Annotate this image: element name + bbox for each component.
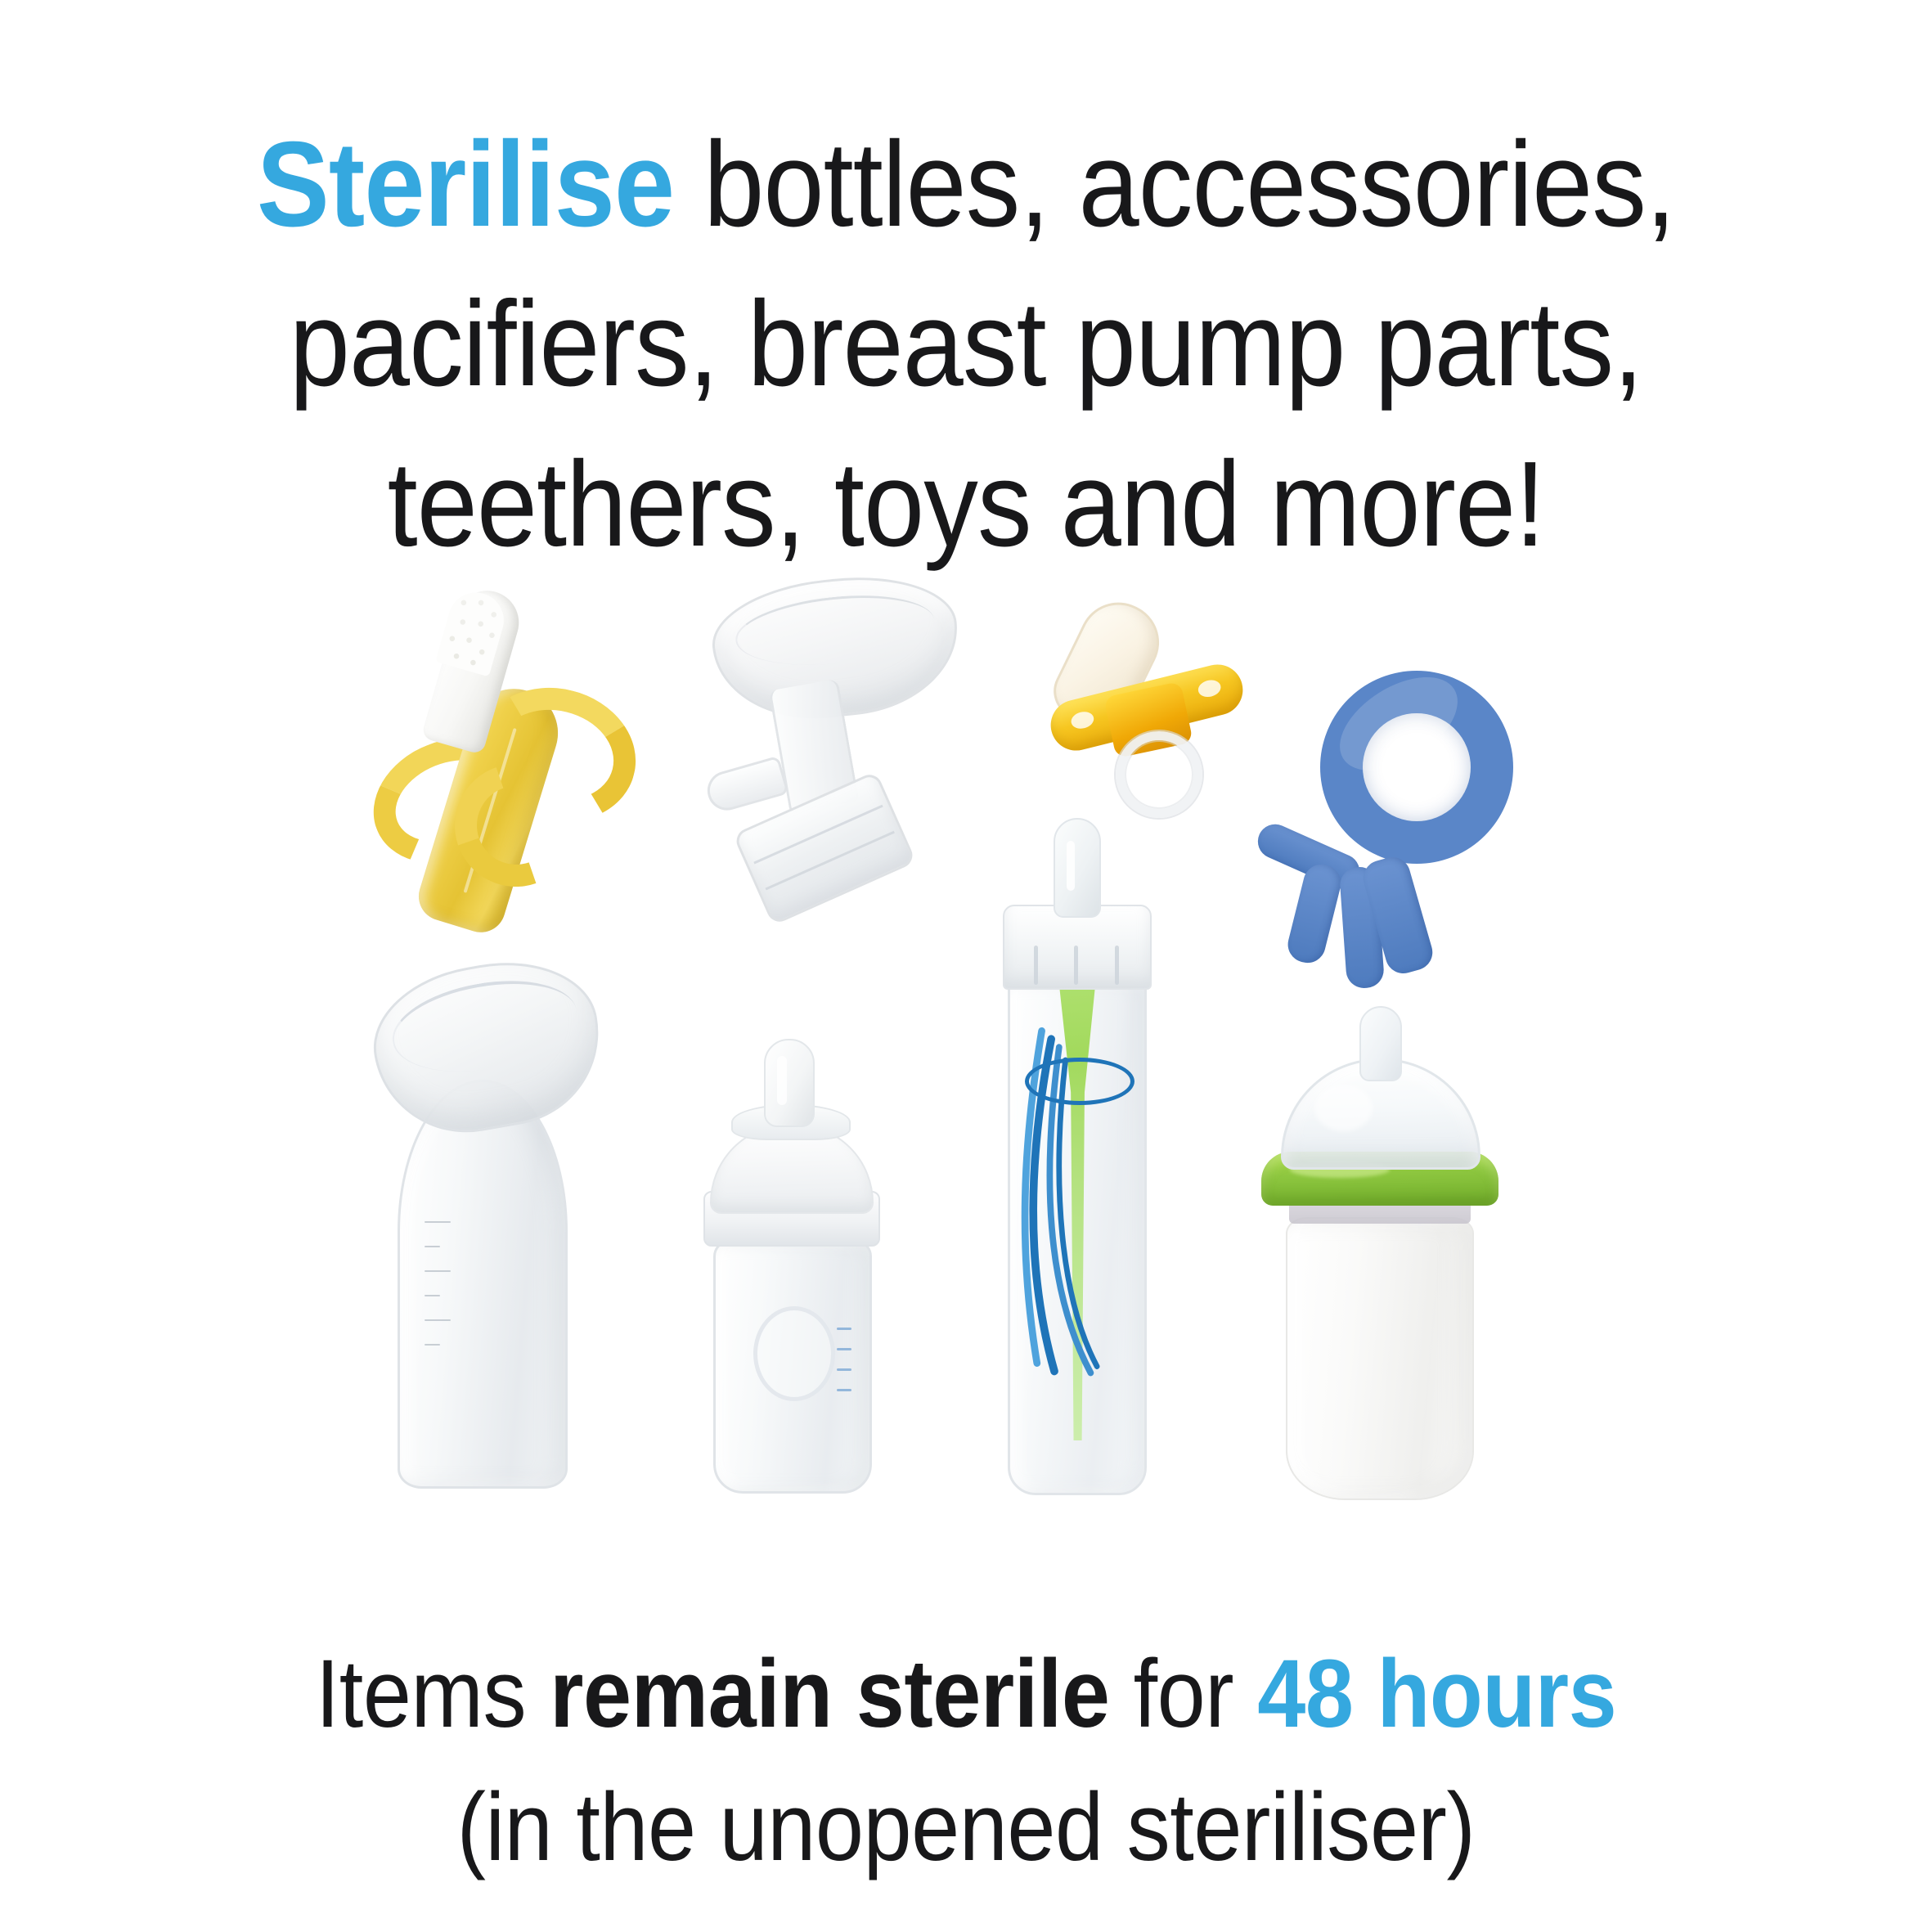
footer-line-1-part-1: Items bbox=[316, 1640, 550, 1748]
product-pacifier bbox=[1047, 597, 1284, 842]
footer-text: Items remain sterile for 48 hours (in th… bbox=[97, 1628, 1835, 1894]
small-bottle-nipple-icon bbox=[764, 1039, 815, 1127]
product-breast-pump-flange bbox=[679, 573, 982, 957]
footer-line-2: (in the unopened steriliser) bbox=[97, 1761, 1835, 1894]
product-natural-baby-bottle bbox=[671, 1039, 916, 1505]
product-milk-collector bbox=[352, 965, 630, 1505]
footer-line-1: Items remain sterile for 48 hours bbox=[97, 1628, 1835, 1761]
tall-bottle-nipple-icon bbox=[1054, 818, 1101, 918]
headline-line-2: pacifiers, breast pump parts, bbox=[97, 264, 1835, 424]
headline-line-1-rest: bottles, accessories, bbox=[674, 117, 1675, 252]
headline-accent-word: Sterilise bbox=[257, 117, 674, 252]
small-bottle-scale-icon bbox=[837, 1328, 858, 1434]
small-bottle-body-icon bbox=[713, 1240, 872, 1494]
headline: Sterilise bottles, accessories, pacifier… bbox=[97, 105, 1835, 584]
teether-prong-b-icon bbox=[1284, 860, 1345, 967]
tall-bottle-highlight-ellipse-icon bbox=[1025, 1058, 1134, 1105]
footer-line-1-accent: 48 hours bbox=[1257, 1640, 1616, 1748]
tall-bottle-body-icon bbox=[1008, 980, 1147, 1495]
small-bottle-grip-icon bbox=[753, 1306, 835, 1401]
product-vented-baby-bottle bbox=[957, 818, 1202, 1505]
product-silicone-baby-bottle bbox=[1243, 1006, 1513, 1505]
product-banana-teether-toothbrush bbox=[376, 589, 646, 941]
green-bottle-body-icon bbox=[1286, 1217, 1474, 1500]
flange-valve-stub-icon bbox=[703, 756, 789, 815]
footer-line-1-part-2: for bbox=[1110, 1640, 1258, 1748]
headline-line-1: Sterilise bottles, accessories, bbox=[97, 105, 1835, 264]
promo-graphic: Sterilise bottles, accessories, pacifier… bbox=[0, 0, 1932, 1932]
collector-scale-marks-icon bbox=[425, 1221, 472, 1393]
footer-line-1-bold: remain sterile bbox=[550, 1640, 1109, 1748]
collector-funnel-icon bbox=[362, 947, 613, 1148]
green-bottle-nipple-icon bbox=[1359, 1006, 1402, 1081]
product-collage bbox=[327, 573, 1620, 1521]
teether-ring-icon bbox=[1320, 671, 1513, 864]
product-ring-teether bbox=[1251, 671, 1521, 998]
headline-line-3: teethers, toys and more! bbox=[97, 425, 1835, 584]
collector-body-icon bbox=[398, 1080, 568, 1489]
